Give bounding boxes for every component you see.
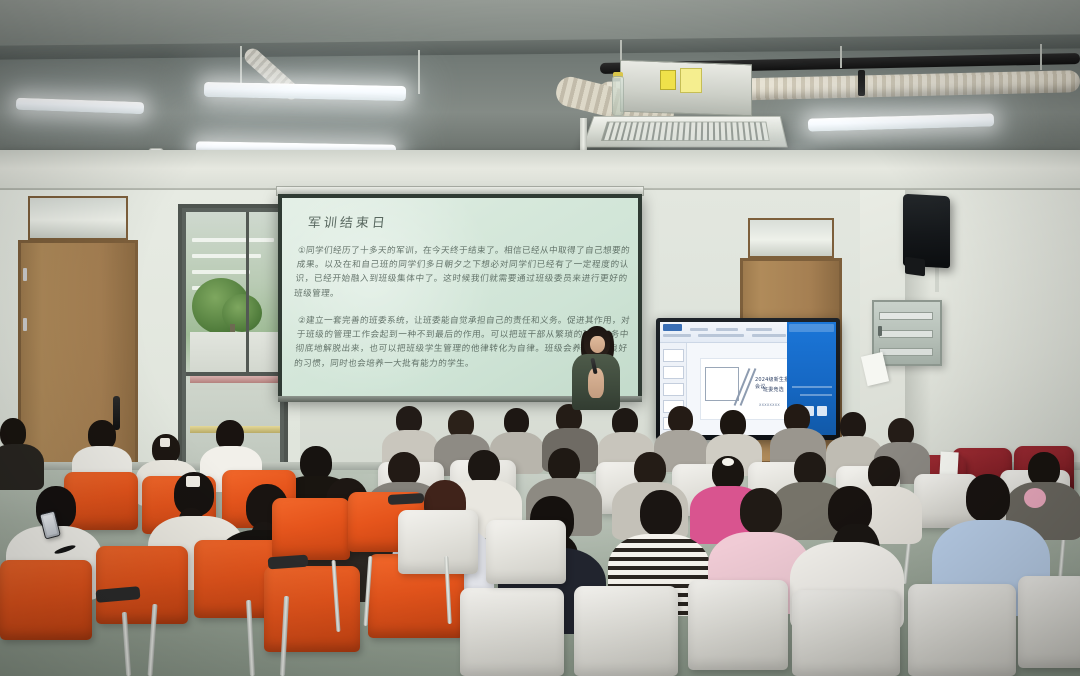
slide-decoration-frame [705, 367, 739, 401]
chair-front[interactable] [460, 588, 564, 676]
window-mullion [186, 372, 280, 376]
window-louver-icon [192, 254, 262, 258]
slide-subheading: 班委竞选 [763, 387, 784, 394]
ribbon-tools-row[interactable] [752, 334, 786, 337]
window-louver-icon [192, 238, 275, 242]
side-toolbar-header [789, 324, 834, 332]
window-mullion [246, 212, 249, 372]
slide-thumbnail[interactable] [663, 383, 684, 396]
tree-icon [222, 294, 262, 332]
door-left-transom-window [28, 196, 128, 240]
panel-breaker-slot [879, 312, 933, 320]
slide-title: 军训结束日 [307, 212, 389, 231]
chair-front[interactable] [574, 586, 678, 676]
window-louver-icon [192, 270, 250, 274]
chair-front[interactable] [908, 584, 1016, 676]
side-toolbar-item[interactable] [800, 394, 832, 396]
duct-strap-icon [858, 70, 865, 96]
side-toolbar-item[interactable] [792, 386, 832, 388]
panel-latch-icon[interactable] [878, 326, 882, 336]
exterior-railing [190, 376, 280, 383]
panel-breaker-slot [879, 348, 933, 356]
ac-spec-label-icon [680, 68, 702, 93]
chair-front[interactable] [688, 580, 788, 670]
door-hinge-icon [23, 268, 27, 281]
ac-grille-icon [601, 122, 770, 141]
chair-armrest [388, 493, 424, 505]
door-right-transom-window [748, 218, 834, 258]
speaker-base [905, 257, 925, 277]
classroom-lecture-scene: 军训结束日 ①同学们经历了十多天的军训，在今天终于结束了。相信已经从中取得了自己… [0, 0, 1080, 676]
phone-screen [43, 514, 58, 536]
chair-front[interactable] [264, 566, 360, 652]
ribbon-tools-row[interactable] [690, 328, 708, 331]
ribbon-tools-row[interactable] [746, 328, 772, 331]
slide-paragraph-1: ①同学们经历了十多天的军训，在今天终于结束了。相信已经从中取得了自己想要的成果。… [294, 244, 631, 301]
door-hinge-icon [23, 318, 27, 331]
chair-front[interactable] [272, 498, 350, 560]
slide-footnote: XXXXXXXX [759, 403, 780, 407]
chair-front[interactable] [792, 590, 900, 676]
duct-hanger-icon [840, 46, 842, 68]
ribbon-tools-row[interactable] [716, 328, 738, 331]
water-bottle-icon [612, 76, 624, 116]
chair-front[interactable] [0, 560, 92, 640]
chair-front[interactable] [96, 546, 188, 624]
side-toolbar-button[interactable] [817, 406, 827, 416]
ac-warning-label-icon [660, 70, 676, 90]
door-left[interactable] [18, 240, 138, 476]
light-hanger-wire [418, 50, 420, 94]
panel-breaker-slot [879, 330, 933, 338]
door-left-handle-icon[interactable] [113, 396, 120, 430]
presenter-face [590, 336, 605, 353]
slide-thumbnail[interactable] [663, 366, 684, 379]
chair-middle[interactable] [398, 510, 478, 574]
slide-thumbnail[interactable] [663, 349, 684, 362]
ribbon-file-tab[interactable] [663, 324, 682, 331]
duct-hanger-icon [1040, 44, 1042, 70]
chair-middle[interactable] [486, 520, 566, 584]
ribbon-tools-row[interactable] [663, 334, 691, 337]
chair-front[interactable] [1018, 576, 1080, 668]
ribbon-tools-row[interactable] [698, 334, 744, 337]
